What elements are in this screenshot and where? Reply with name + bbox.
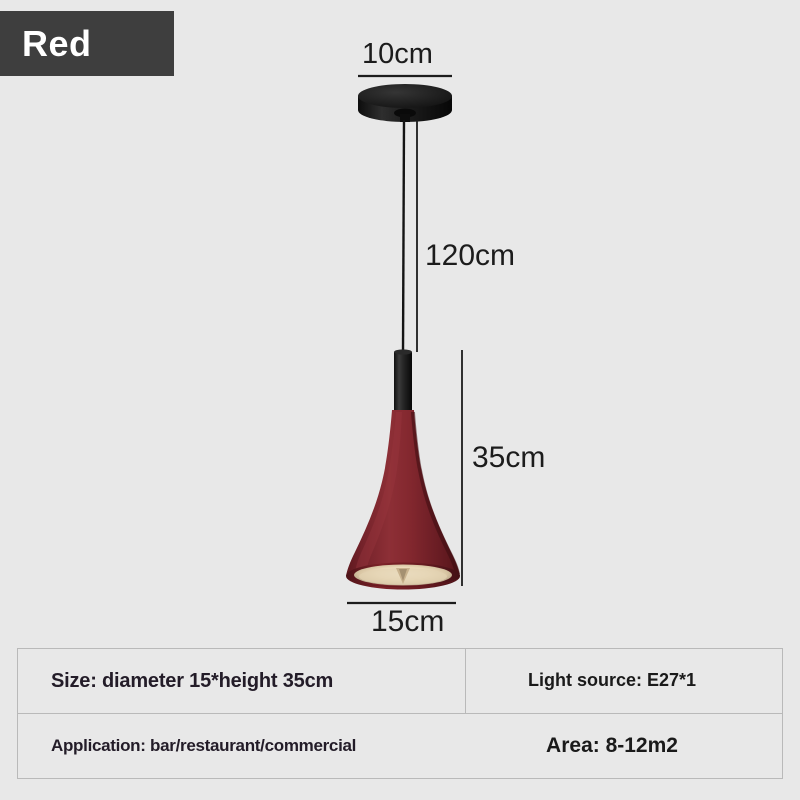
spec-area-text: Area: 8-12m2 bbox=[546, 734, 678, 757]
lamp-body bbox=[346, 349, 460, 589]
spec-light-source-text: Light source: E27*1 bbox=[528, 671, 696, 691]
spec-cell-size: Size: diameter 15*height 35cm bbox=[18, 649, 466, 713]
spec-cell-area: Area: 8-12m2 bbox=[466, 714, 782, 778]
dimension-label-top-diameter: 10cm bbox=[362, 40, 433, 69]
ceiling-canopy bbox=[358, 84, 452, 122]
product-spec-image: Red bbox=[0, 0, 800, 800]
specification-table: Size: diameter 15*height 35cm Light sour… bbox=[17, 648, 783, 779]
hanging-cord bbox=[403, 120, 404, 352]
spec-cell-application: Application: bar/restaurant/commercial bbox=[18, 714, 466, 778]
lamp-illustration bbox=[0, 0, 800, 650]
spec-cell-light-source: Light source: E27*1 bbox=[466, 649, 782, 713]
spec-table-row: Application: bar/restaurant/commercial A… bbox=[18, 714, 782, 778]
spec-table-row: Size: diameter 15*height 35cm Light sour… bbox=[18, 649, 782, 714]
lamp-shade bbox=[346, 410, 460, 576]
spec-application-text: Application: bar/restaurant/commercial bbox=[51, 737, 356, 756]
dimension-label-shade-diameter: 15cm bbox=[371, 607, 444, 637]
lamp-shade-mouth bbox=[346, 563, 460, 590]
lamp-black-stem bbox=[394, 349, 412, 414]
dimension-label-shade-height: 35cm bbox=[472, 443, 545, 473]
dimension-label-cord-length: 120cm bbox=[425, 241, 515, 271]
spec-size-text: Size: diameter 15*height 35cm bbox=[51, 670, 333, 692]
